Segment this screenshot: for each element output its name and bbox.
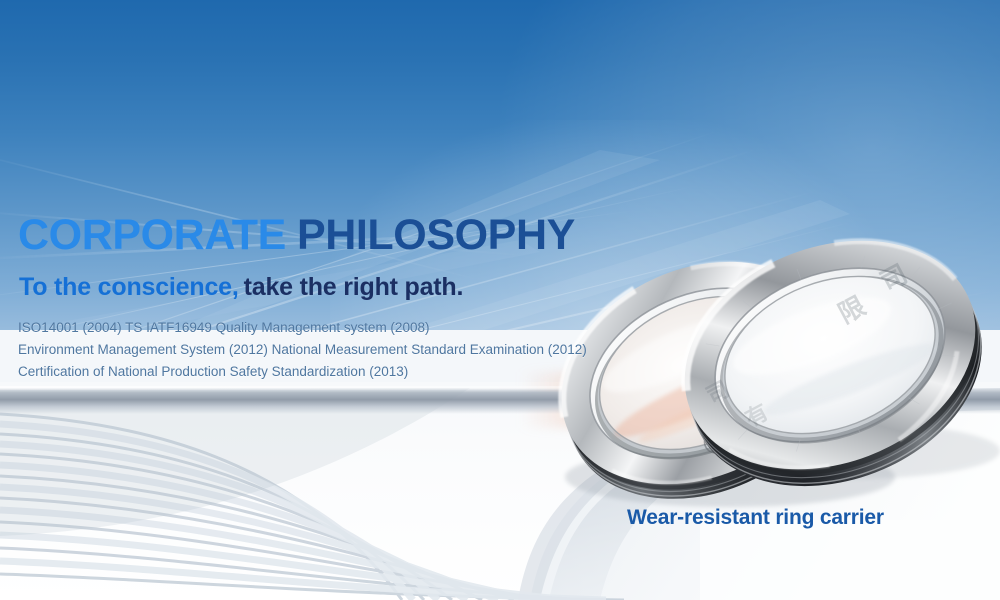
certification-line: Certification of National Production Saf… [18,361,638,383]
product-caption: Wear-resistant ring carrier [627,506,884,530]
headline-word-philosophy: PHILOSOPHY [297,211,575,259]
subtitle-part-one: To the conscience, [19,273,239,301]
certification-line: ISO14001 (2004) TS IATF16949 Quality Man… [18,317,638,339]
headline-word-corporate: CORPORATE [18,211,286,259]
page-title: CORPORATEPHILOSOPHY [18,214,575,257]
certifications-list: ISO14001 (2004) TS IATF16949 Quality Man… [18,317,638,383]
subtitle: To the conscience,take the right path. [19,275,463,300]
corporate-philosophy-banner: 司 限 司 有 CORPORATEPHILOSOPHY To the consc… [0,0,1000,600]
subtitle-part-two: take the right path. [244,273,464,301]
certification-line: Environment Management System (2012) Nat… [18,339,638,361]
